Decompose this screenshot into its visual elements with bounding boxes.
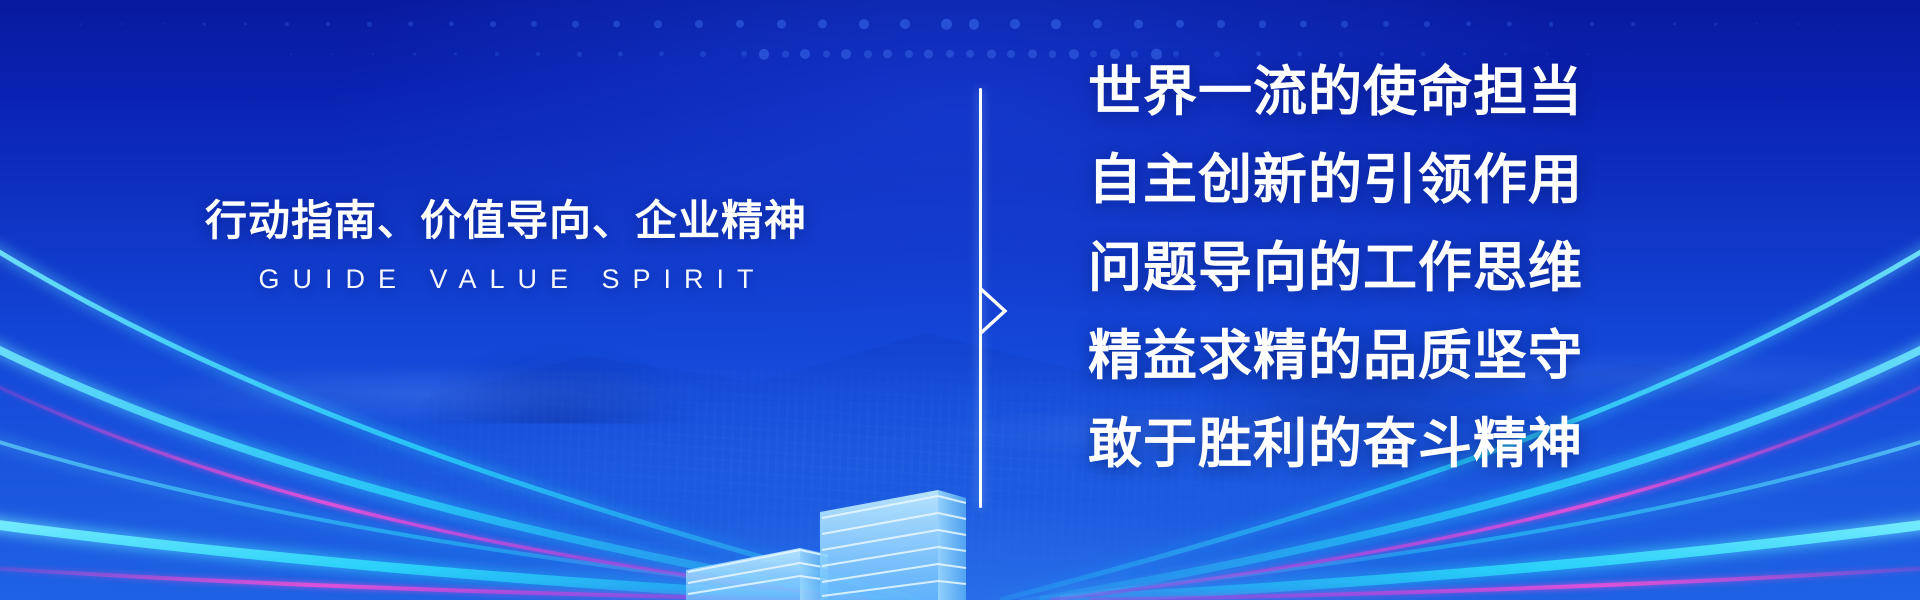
dot	[841, 49, 851, 59]
dot	[80, 23, 82, 25]
dot	[905, 50, 913, 58]
dot	[883, 49, 892, 58]
dot	[203, 23, 206, 26]
dot	[782, 51, 789, 58]
left-headline: 行动指南、价值导向、企业精神	[196, 196, 816, 246]
dot	[572, 21, 579, 28]
dot	[495, 52, 499, 56]
dot	[408, 22, 413, 27]
dot	[1007, 50, 1015, 58]
left-subtitle-english: GUIDE VALUE SPIRIT	[196, 264, 816, 295]
dot	[823, 50, 830, 57]
dot	[966, 50, 974, 58]
dot	[618, 52, 623, 57]
dot	[924, 50, 933, 59]
slogan-line: 精益求精的品质坚守	[1088, 312, 1608, 400]
dot	[700, 51, 706, 57]
dot	[1010, 19, 1020, 29]
chevron-right-icon	[979, 286, 1009, 336]
dot	[531, 21, 537, 27]
dot	[800, 49, 810, 59]
dot	[759, 49, 770, 60]
dot	[736, 20, 744, 28]
dot	[413, 53, 416, 56]
dot	[1134, 20, 1143, 29]
slogan-line: 世界一流的使命担当	[1088, 48, 1608, 136]
dot	[659, 51, 664, 56]
dot	[818, 19, 827, 28]
dot	[1424, 21, 1430, 27]
dot	[244, 22, 247, 25]
dot	[1049, 50, 1057, 58]
dot	[777, 20, 786, 29]
dot	[285, 22, 289, 26]
dot	[859, 19, 869, 29]
dot	[946, 50, 954, 58]
dot	[1176, 20, 1184, 28]
dot	[1341, 21, 1348, 28]
dot	[654, 20, 662, 28]
dot	[1756, 23, 1758, 25]
dot-row	[0, 44, 900, 64]
right-slogan-list: 世界一流的使命担当 自主创新的引领作用 问题导向的工作思维 精益求精的品质坚守 …	[1088, 48, 1608, 488]
dot	[367, 22, 372, 27]
dot	[326, 22, 330, 26]
dot	[577, 52, 582, 57]
dot	[613, 20, 620, 27]
dot	[1631, 22, 1635, 26]
dot-row	[1020, 14, 1920, 34]
dot	[454, 52, 457, 55]
dot	[741, 51, 747, 57]
dot	[1629, 53, 1631, 55]
dot	[1797, 23, 1799, 25]
dot	[1839, 23, 1841, 25]
dot	[1714, 23, 1717, 26]
left-text-block: 行动指南、价值导向、企业精神 GUIDE VALUE SPIRIT	[196, 196, 816, 295]
dot	[864, 50, 872, 58]
dot	[449, 21, 454, 26]
dot	[900, 19, 910, 29]
dot	[695, 20, 703, 28]
corporate-culture-banner: 行动指南、价值导向、企业精神 GUIDE VALUE SPIRIT 世界一流的使…	[0, 0, 1920, 600]
dot	[290, 53, 292, 55]
dot	[1093, 19, 1102, 28]
dot	[1383, 21, 1389, 27]
dot	[987, 50, 996, 59]
dot	[162, 23, 164, 25]
slogan-line: 自主创新的引领作用	[1088, 136, 1608, 224]
dot	[1507, 22, 1512, 27]
dot	[372, 53, 374, 55]
dot-grid-icon-left	[0, 0, 900, 74]
dot	[121, 23, 123, 25]
dot	[1549, 22, 1554, 27]
dot	[969, 19, 980, 30]
dot	[1028, 49, 1037, 58]
dot	[331, 53, 333, 55]
dot	[941, 19, 952, 30]
dot	[490, 21, 496, 27]
dot	[1466, 21, 1471, 26]
dot-row	[0, 14, 900, 34]
dot	[1217, 20, 1225, 28]
slogan-line: 问题导向的工作思维	[1088, 224, 1608, 312]
dot	[1259, 20, 1267, 28]
dot	[1051, 19, 1061, 29]
dot	[1300, 20, 1307, 27]
dot	[1590, 22, 1594, 26]
dot	[1069, 49, 1079, 59]
slogan-line: 敢于胜利的奋斗精神	[1088, 400, 1608, 488]
dot	[1673, 22, 1676, 25]
dot	[536, 52, 540, 56]
